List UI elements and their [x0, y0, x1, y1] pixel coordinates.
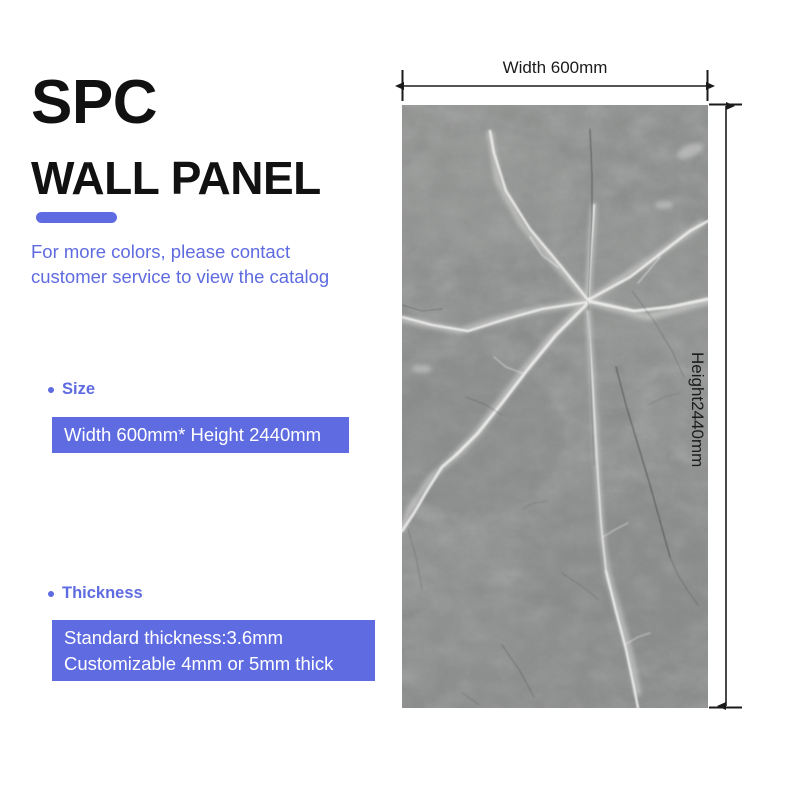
text-column: SPC WALL PANEL For more colors, please c… — [0, 0, 392, 800]
marble-texture — [402, 105, 708, 708]
page-subtitle-heading: WALL PANEL — [31, 155, 321, 201]
bullet-icon — [48, 387, 54, 393]
spec-label-thickness: Thickness — [48, 584, 143, 603]
product-image-marble-panel — [402, 105, 708, 708]
accent-bar — [36, 212, 117, 223]
spec-value-size: Width 600mm* Height 2440mm — [52, 417, 349, 453]
bullet-icon — [48, 591, 54, 597]
spec-label-size: Size — [48, 380, 95, 399]
dimension-label-width: Width 600mm — [402, 58, 708, 78]
infographic-canvas: SPC WALL PANEL For more colors, please c… — [0, 0, 800, 800]
spec-label-thickness-text: Thickness — [62, 584, 143, 603]
dimension-label-height: Height2440mm — [687, 352, 707, 467]
page-title: SPC — [31, 72, 157, 134]
spec-value-thickness: Standard thickness:3.6mm Customizable 4m… — [52, 620, 375, 681]
spec-label-size-text: Size — [62, 380, 95, 399]
contact-note: For more colors, please contact customer… — [31, 240, 381, 289]
